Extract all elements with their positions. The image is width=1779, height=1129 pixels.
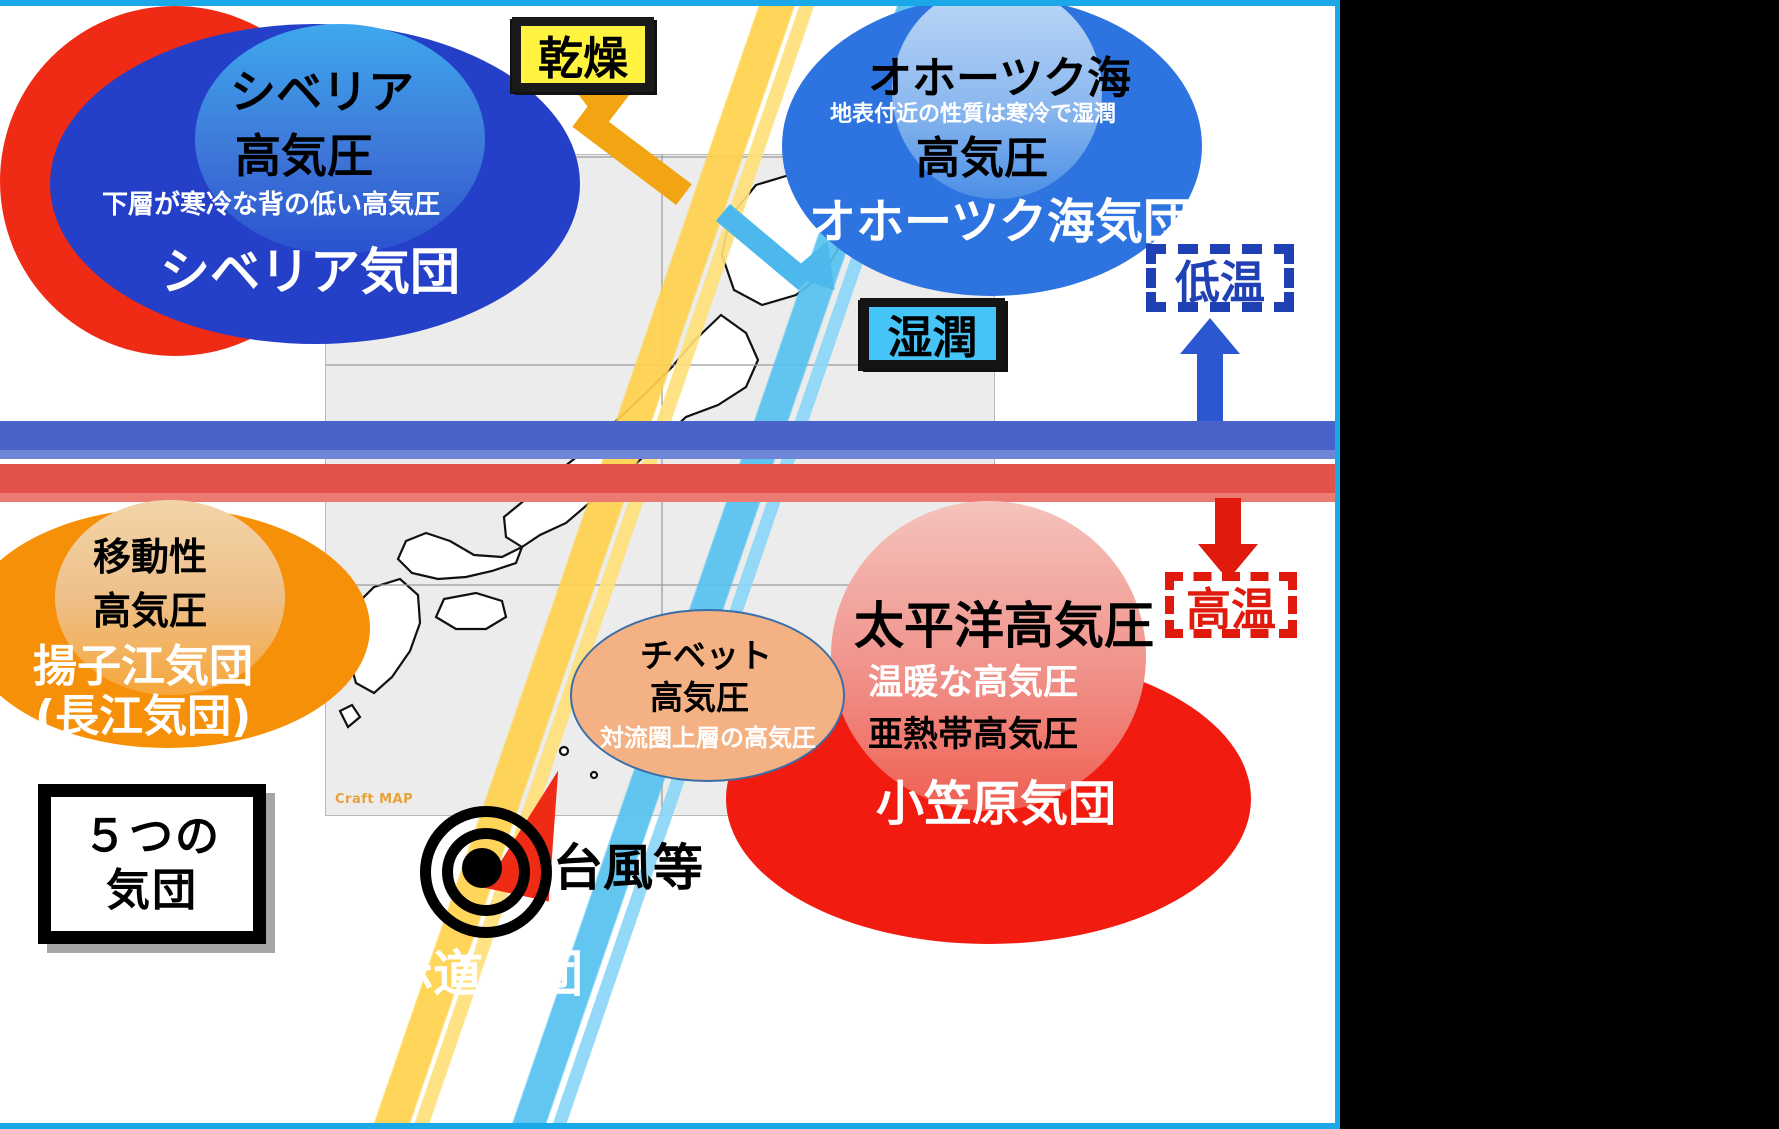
cold-band-edge — [0, 450, 1340, 459]
pacific-note1: 温暖な高気圧 — [868, 654, 1078, 705]
callout-high-temp-label: 高温 — [1186, 573, 1276, 638]
callout-dry[interactable]: 乾燥 — [512, 17, 654, 92]
tibet-heading-line1: チベット — [640, 629, 772, 677]
callout-high-temp[interactable]: 高温 — [1165, 572, 1297, 638]
callout-dry-label: 乾燥 — [538, 22, 628, 87]
yangtze-heading-line2: 高気圧 — [93, 580, 207, 635]
typhoon-label: 台風等 — [553, 828, 703, 900]
air-mass-yangtze[interactable]: 移動性 高気圧 揚子江気団 (長江気団) — [0, 508, 370, 748]
siberia-heading-line1: シベリア — [230, 56, 414, 122]
okhotsk-heading-line2: 高気圧 — [916, 122, 1048, 186]
siberia-note: 下層が寒冷な背の低い高気圧 — [102, 184, 440, 221]
warm-band — [0, 464, 1340, 494]
tibet-heading-line2: 高気圧 — [650, 671, 749, 719]
diagram-area: Craft MAP シベリア 高気圧 下層が寒冷な背の低い高気圧 シベリア気団 … — [0, 0, 1340, 1129]
air-mass-okhotsk[interactable]: オホーツク海 地表付近の性質は寒冷で湿潤 高気圧 オホーツク海気団 — [782, 0, 1202, 296]
pacific-note2: 亜熱帯高気圧 — [868, 706, 1078, 757]
air-mass-siberia[interactable]: シベリア 高気圧 下層が寒冷な背の低い高気圧 シベリア気団 — [50, 24, 580, 344]
pacific-heading: 太平洋高気圧 — [854, 586, 1154, 658]
pacific-name: 小笠原気団 — [876, 764, 1116, 834]
callout-humid-label: 湿潤 — [887, 301, 977, 366]
map-credit: Craft MAP — [335, 792, 413, 807]
low-temp-arrow-stem — [1197, 346, 1223, 421]
yangtze-heading-line1: 移動性 — [93, 526, 207, 581]
air-mass-tibet[interactable]: チベット 高気圧 対流圏上層の高気圧 — [570, 609, 845, 782]
title-line-2: 気団 — [106, 864, 198, 918]
tibet-note: 対流圏上層の高気圧 — [600, 718, 816, 753]
siberia-heading-line2: 高気圧 — [235, 120, 373, 186]
yangtze-name-alt: (長江気団) — [35, 680, 251, 744]
title-box: ５つの 気団 — [38, 784, 266, 944]
dry-arrow-head — [578, 94, 630, 128]
callout-low-temp[interactable]: 低温 — [1146, 244, 1294, 312]
equatorial-name: 赤道気団 — [383, 934, 583, 1006]
callout-low-temp-label: 低温 — [1175, 246, 1265, 311]
typhoon-icon — [420, 806, 552, 938]
cold-band — [0, 421, 1340, 451]
okhotsk-name: オホーツク海気団 — [808, 182, 1191, 252]
title-line-1: ５つの — [83, 810, 221, 864]
warm-band-edge — [0, 493, 1340, 502]
callout-humid[interactable]: 湿潤 — [860, 298, 1005, 369]
slide-canvas: Craft MAP シベリア 高気圧 下層が寒冷な背の低い高気圧 シベリア気団 … — [0, 0, 1779, 1129]
siberia-name: シベリア気団 — [160, 232, 460, 304]
